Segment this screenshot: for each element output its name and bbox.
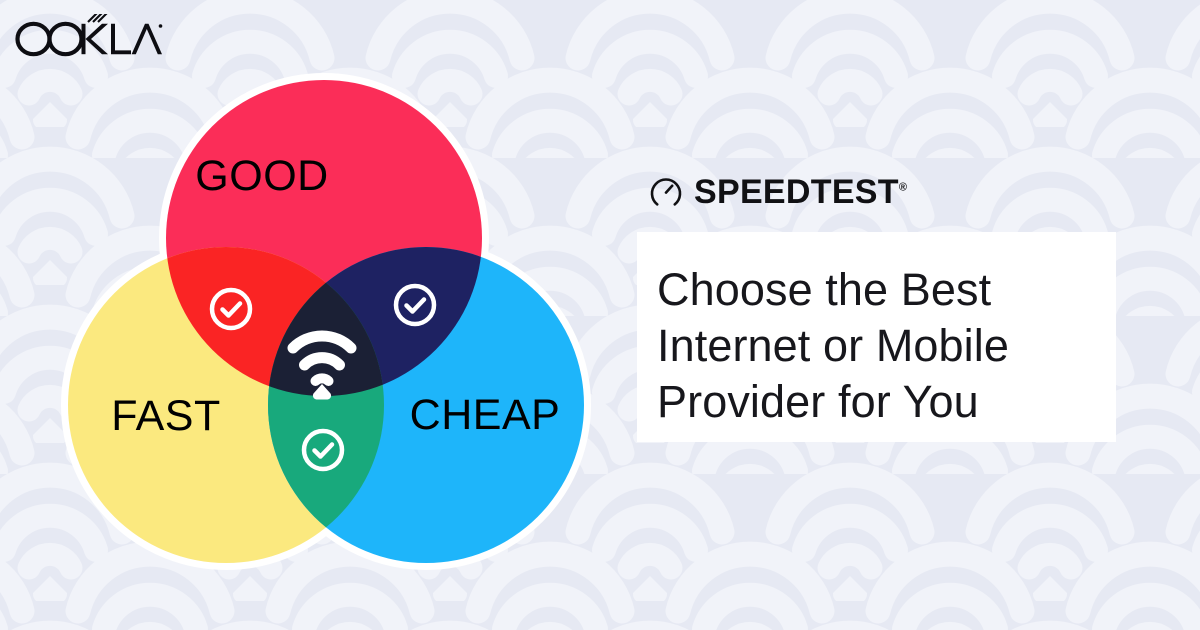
speedtest-wordmark-text: SPEEDTEST: [694, 173, 899, 211]
speedtest-wordmark: SPEEDTEST®: [694, 175, 907, 209]
speedometer-gauge-icon: [648, 174, 684, 210]
speedtest-logo[interactable]: SPEEDTEST®: [648, 170, 907, 214]
venn-label-cheap: CHEAP: [410, 391, 561, 440]
right-content-column: SPEEDTEST® Choose the Best Internet or M…: [637, 170, 907, 214]
ookla-logo[interactable]: [14, 14, 164, 60]
headline-card: Choose the Best Internet or Mobile Provi…: [637, 232, 1116, 442]
ookla-k-glyph: [82, 14, 113, 54]
venn-label-good: GOOD: [195, 152, 328, 201]
venn-label-fast: FAST: [111, 392, 221, 441]
page-title: Choose the Best Internet or Mobile Provi…: [657, 262, 1090, 430]
headline-line-2: Internet or Mobile: [657, 318, 1090, 374]
venn-diagram: [48, 60, 608, 570]
headline-line-3: Provider for You: [657, 374, 1090, 430]
headline-line-1: Choose the Best: [657, 262, 1090, 318]
speedtest-trademark: ®: [899, 182, 907, 194]
